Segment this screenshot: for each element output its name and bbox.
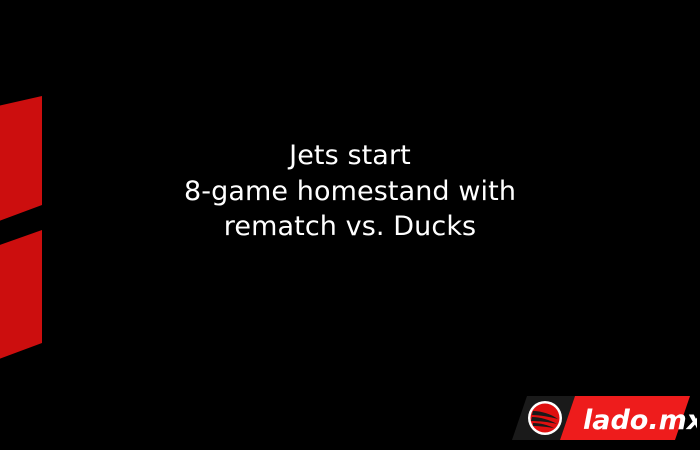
left-red-chevron-decoration: [0, 0, 120, 450]
headline-text: Jets start 8-game homestand with rematch…: [120, 138, 580, 245]
logo-graphic: lado.mx: [505, 388, 697, 446]
chevron-bar-bottom: [0, 230, 42, 366]
chevron-bar-top: [0, 96, 42, 228]
logo-lado-mx[interactable]: lado.mx: [505, 388, 697, 446]
article-thumbnail-card: Jets start 8-game homestand with rematch…: [0, 0, 700, 450]
logo-wordmark: lado.mx: [583, 405, 697, 436]
